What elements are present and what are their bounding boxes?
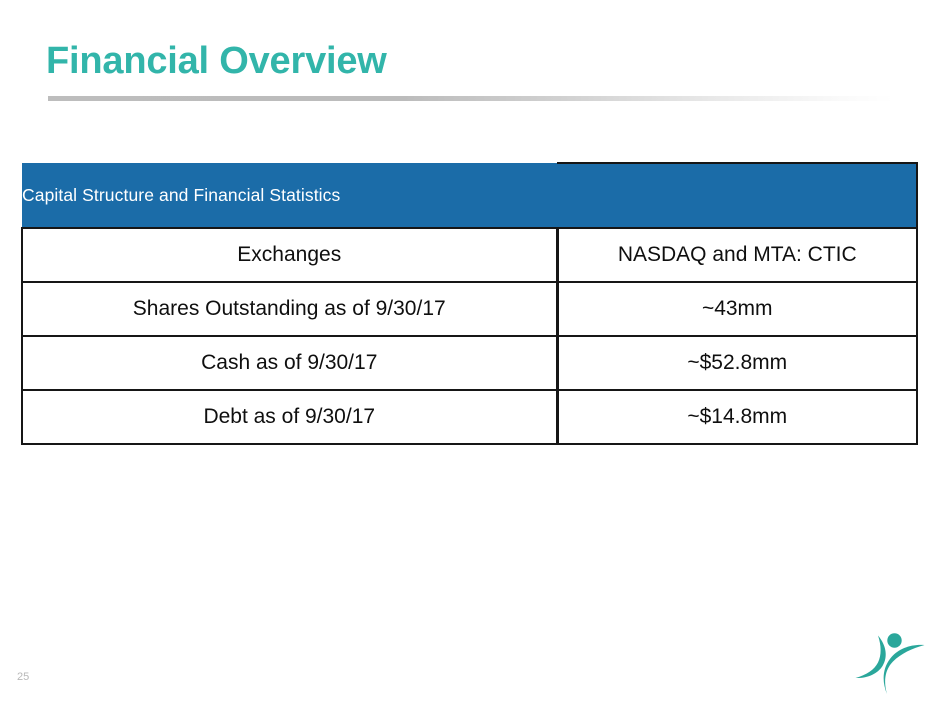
row-label: Cash as of 9/30/17 (22, 336, 557, 390)
slide-canvas: Financial Overview Capital Structure and… (0, 0, 940, 705)
cti-biopharma-logo-icon: Stylized teal human figure logo (853, 628, 927, 696)
row-value: ~$52.8mm (557, 336, 917, 390)
row-value: ~$14.8mm (557, 390, 917, 444)
row-label: Debt as of 9/30/17 (22, 390, 557, 444)
table-header-blank (557, 163, 917, 228)
table-row: Cash as of 9/30/17 ~$52.8mm (22, 336, 917, 390)
page-number: 25 (17, 672, 29, 683)
row-label: Exchanges (22, 228, 557, 282)
row-value: ~43mm (557, 282, 917, 336)
table-row: Debt as of 9/30/17 ~$14.8mm (22, 390, 917, 444)
page-title: Financial Overview (46, 42, 387, 82)
table-body: Exchanges NASDAQ and MTA: CTIC Shares Ou… (22, 228, 917, 444)
row-value: NASDAQ and MTA: CTIC (557, 228, 917, 282)
row-label: Shares Outstanding as of 9/30/17 (22, 282, 557, 336)
capital-structure-table: Capital Structure and Financial Statisti… (21, 162, 918, 445)
title-divider (48, 96, 893, 101)
table-header: Capital Structure and Financial Statisti… (22, 163, 917, 228)
table-header-title: Capital Structure and Financial Statisti… (22, 163, 557, 228)
table-header-row: Capital Structure and Financial Statisti… (22, 163, 917, 228)
table-row: Exchanges NASDAQ and MTA: CTIC (22, 228, 917, 282)
logo-alt-text: Stylized teal human figure logo (927, 628, 928, 629)
table-row: Shares Outstanding as of 9/30/17 ~43mm (22, 282, 917, 336)
